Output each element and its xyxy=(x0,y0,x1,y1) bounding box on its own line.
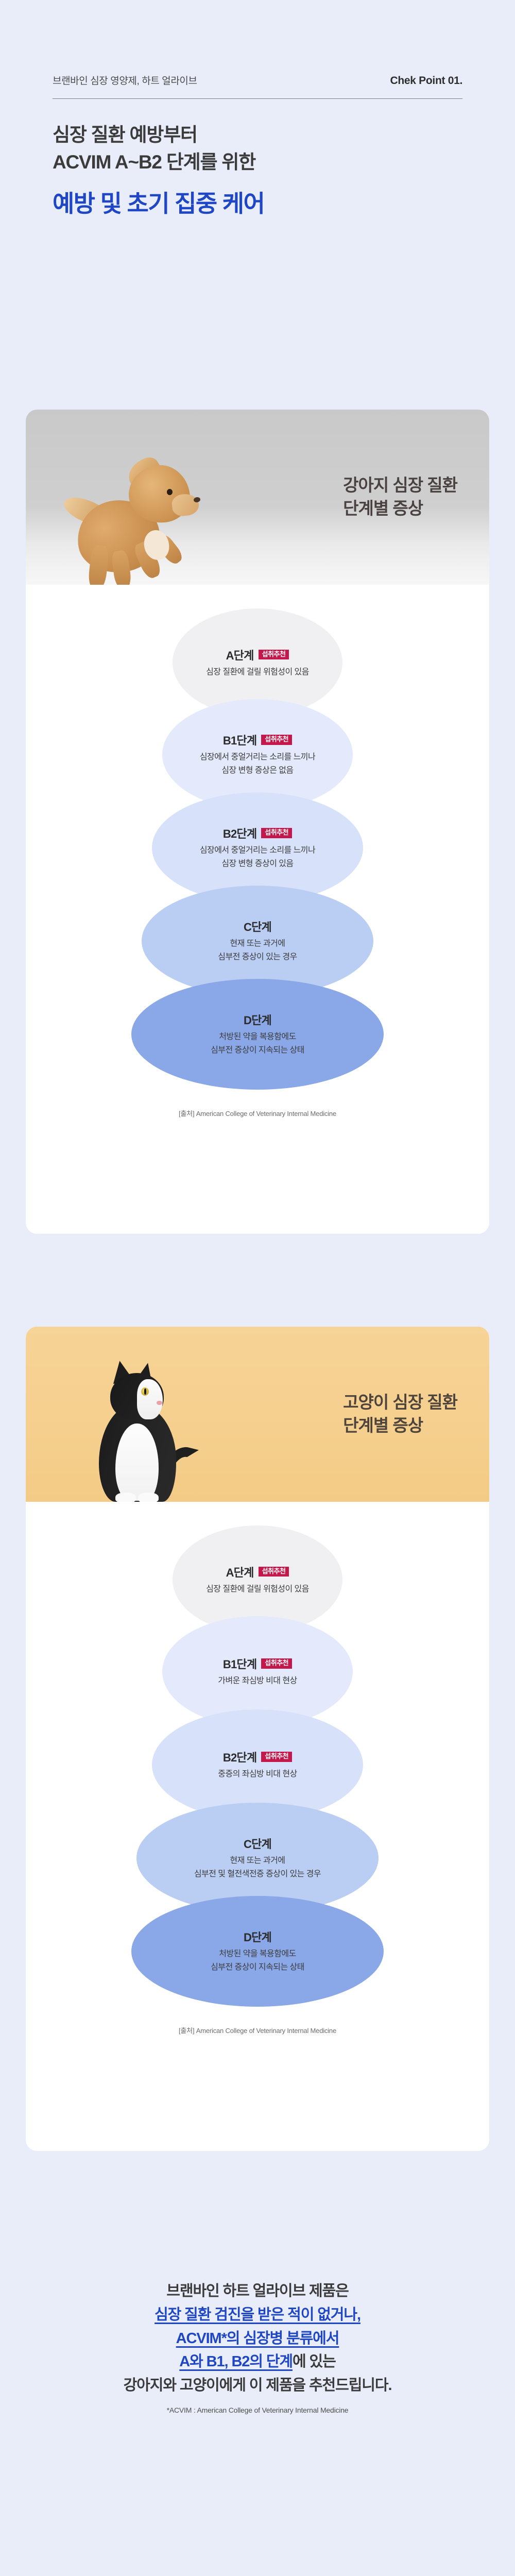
stage-header: B2단계섭취추천 xyxy=(223,1749,292,1765)
stage-description-line: 심장에서 중얼거리는 소리를 느끼나 xyxy=(200,751,315,764)
stage-description-line: 처방된 약을 복용함에도 xyxy=(219,1030,296,1044)
dog-hero-title-line-1: 강아지 심장 질환 xyxy=(343,474,457,497)
stage-recommend-badge: 섭취추천 xyxy=(261,1752,292,1762)
stage-name: C단계 xyxy=(244,918,271,935)
header-row: 브랜바인 심장 영양제, 하트 얼라이브 Chek Point 01. xyxy=(53,73,462,98)
conclusion-highlight-3: ACVIM*의 심장병 분류에서 xyxy=(176,2330,339,2347)
stage-description-line: 현재 또는 과거에 xyxy=(230,937,285,951)
stage-name: A단계 xyxy=(226,1564,254,1580)
dog-hero-title: 강아지 심장 질환 단계별 증상 xyxy=(343,474,457,520)
title-line-1: 심장 질환 예방부터 xyxy=(53,122,462,149)
cat-source-note: [출처] American College of Veterinary Inte… xyxy=(26,2007,489,2035)
page-title: 심장 질환 예방부터 ACVIM A~B2 단계를 위한 예방 및 초기 집중 … xyxy=(0,99,515,219)
conclusion-line-2: 심장 질환 검진을 받은 적이 없거나, xyxy=(0,2303,515,2327)
conclusion-highlight-4: A와 B1, B2의 단계 xyxy=(179,2353,293,2370)
dog-hero-title-line-2: 단계별 증상 xyxy=(343,497,457,520)
title-line-2: ACVIM A~B2 단계를 위한 xyxy=(53,149,462,176)
cat-stage-card: 고양이 심장 질환 단계별 증상 A단계섭취추천심장 질환에 걸릴 위험성이 있… xyxy=(26,1327,489,2151)
stage-description-line: 심장 질환에 걸릴 위험성이 있음 xyxy=(206,1583,309,1596)
stage-recommend-badge: 섭취추천 xyxy=(261,1658,292,1669)
page-header: 브랜바인 심장 영양제, 하트 얼라이브 Chek Point 01. xyxy=(0,0,515,99)
stage-recommend-badge: 섭취추천 xyxy=(259,1567,289,1577)
stage-description-line: 심장 변형 증상이 있음 xyxy=(221,857,293,871)
conclusion-block: 브랜바인 하트 얼라이브 제품은 심장 질환 검진을 받은 적이 없거나, AC… xyxy=(0,2280,515,2414)
conclusion-footnote: *ACVIM : American College of Veterinary … xyxy=(0,2406,515,2414)
stage-name: D단계 xyxy=(244,1011,271,1028)
dog-illustration-icon xyxy=(66,433,220,585)
title-accent: 예방 및 초기 집중 케어 xyxy=(53,189,462,219)
stage-name: B1단계 xyxy=(223,1655,256,1672)
dog-stage-card: 강아지 심장 질환 단계별 증상 A단계섭취추천심장 질환에 걸릴 위험성이 있… xyxy=(26,410,489,1234)
stage-recommend-badge: 섭취추천 xyxy=(261,828,292,838)
stage-description-line: 가벼운 좌심방 비대 현상 xyxy=(218,1674,297,1688)
conclusion-line-1: 브랜바인 하트 얼라이브 제품은 xyxy=(0,2280,515,2303)
stage-header: D단계 xyxy=(244,1011,271,1028)
stage-description-line: 처방된 약을 복용함에도 xyxy=(219,1947,296,1961)
stage-header: D단계 xyxy=(244,1928,271,1945)
stage-ellipse: D단계처방된 약을 복용함에도심부전 증상이 지속되는 상태 xyxy=(131,1896,384,2007)
cat-hero: 고양이 심장 질환 단계별 증상 xyxy=(26,1327,489,1502)
dog-source-note: [출처] American College of Veterinary Inte… xyxy=(26,1090,489,1118)
stage-header: C단계 xyxy=(244,918,271,935)
dog-stage-area: A단계섭취추천심장 질환에 걸릴 위험성이 있음B1단계섭취추천심장에서 중얼거… xyxy=(26,585,489,1122)
stage-description-line: 심부전 증상이 있는 경우 xyxy=(218,951,297,964)
cat-illustration-icon xyxy=(83,1355,212,1502)
stage-description-line: 심장 질환에 걸릴 위험성이 있음 xyxy=(206,666,309,679)
stage-name: B1단계 xyxy=(223,732,256,748)
stage-description-line: 현재 또는 과거에 xyxy=(230,1854,285,1868)
cat-hero-title-line-1: 고양이 심장 질환 xyxy=(343,1391,457,1414)
stage-recommend-badge: 섭취추천 xyxy=(259,650,289,660)
stage-description-line: 심부전 증상이 지속되는 상태 xyxy=(211,1044,304,1057)
stage-header: A단계섭취추천 xyxy=(226,647,289,663)
stage-header: B1단계섭취추천 xyxy=(223,1655,292,1672)
stage-header: C단계 xyxy=(244,1835,271,1852)
stage-ellipse: D단계처방된 약을 복용함에도심부전 증상이 지속되는 상태 xyxy=(131,979,384,1090)
cat-stage-funnel: A단계섭취추천심장 질환에 걸릴 위험성이 있음B1단계섭취추천가벼운 좌심방 … xyxy=(26,1526,489,2007)
cat-stage-area: A단계섭취추천심장 질환에 걸릴 위험성이 있음B1단계섭취추천가벼운 좌심방 … xyxy=(26,1502,489,2039)
stage-header: A단계섭취추천 xyxy=(226,1564,289,1580)
checkpoint-label: Chek Point 01. xyxy=(390,75,462,87)
stage-description-line: 심부전 및 혈전색전증 증상이 있는 경우 xyxy=(194,1868,321,1881)
conclusion-highlight-2: 심장 질환 검진을 받은 적이 없거나, xyxy=(154,2307,360,2323)
stage-name: A단계 xyxy=(226,647,254,663)
conclusion-line-4: A와 B1, B2의 단계에 있는 xyxy=(0,2350,515,2374)
stage-name: B2단계 xyxy=(223,825,256,841)
stage-header: B1단계섭취추천 xyxy=(223,732,292,748)
conclusion-line-5: 강아지와 고양이에게 이 제품을 추천드립니다. xyxy=(0,2374,515,2398)
stage-description-line: 심장에서 중얼거리는 소리를 느끼나 xyxy=(200,844,315,857)
cat-hero-title-line-2: 단계별 증상 xyxy=(343,1414,457,1437)
stage-recommend-badge: 섭취추천 xyxy=(261,735,292,745)
cat-hero-title: 고양이 심장 질환 단계별 증상 xyxy=(343,1391,457,1437)
dog-hero: 강아지 심장 질환 단계별 증상 xyxy=(26,410,489,585)
conclusion-line-3: ACVIM*의 심장병 분류에서 xyxy=(0,2327,515,2351)
stage-name: C단계 xyxy=(244,1835,271,1852)
stage-name: B2단계 xyxy=(223,1749,256,1765)
stage-header: B2단계섭취추천 xyxy=(223,825,292,841)
brand-kicker: 브랜바인 심장 영양제, 하트 얼라이브 xyxy=(53,73,197,87)
conclusion-line-4-rest: 에 있는 xyxy=(293,2353,336,2370)
stage-description-line: 심부전 증상이 지속되는 상태 xyxy=(211,1961,304,1974)
stage-description-line: 중증의 좌심방 비대 현상 xyxy=(218,1768,297,1781)
stage-description-line: 심장 변형 증상은 없음 xyxy=(221,764,293,777)
stage-name: D단계 xyxy=(244,1928,271,1945)
dog-stage-funnel: A단계섭취추천심장 질환에 걸릴 위험성이 있음B1단계섭취추천심장에서 중얼거… xyxy=(26,608,489,1090)
